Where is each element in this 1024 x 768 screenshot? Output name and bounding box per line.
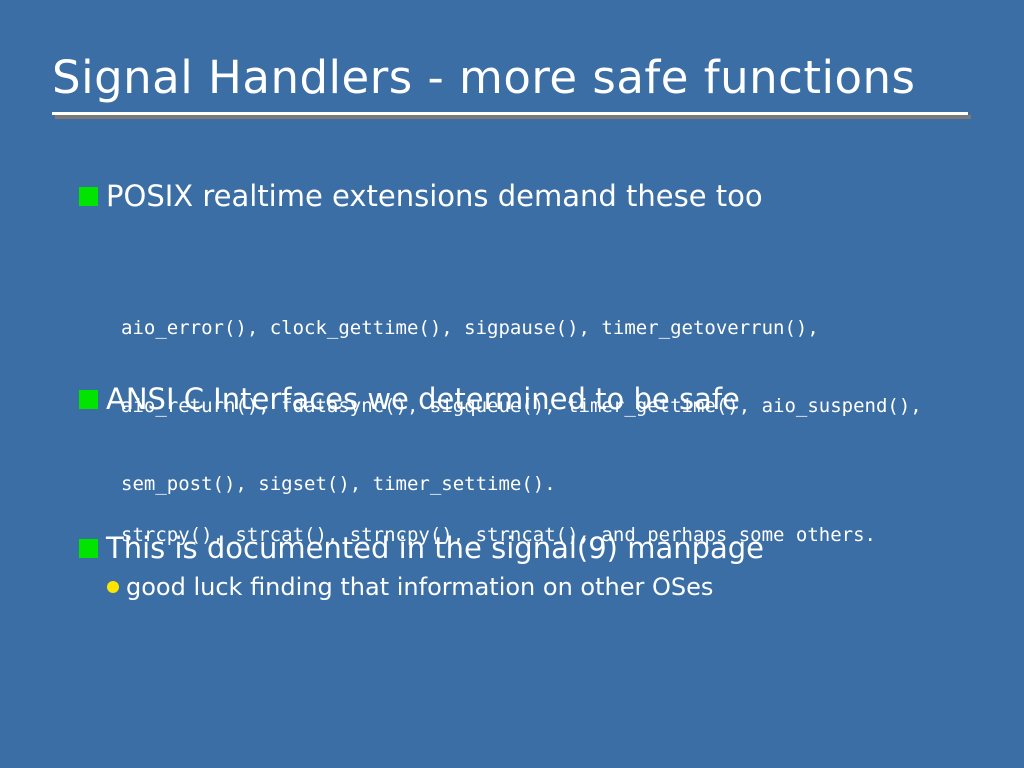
slide-body: POSIX realtime extensions demand these t… — [0, 0, 1024, 768]
bullet-item-ansi-c: ANSI C Interfaces we determined to be sa… — [79, 381, 740, 417]
bullet-item-label: ANSI C Interfaces we determined to be sa… — [106, 381, 740, 417]
bullet-item-posix: POSIX realtime extensions demand these t… — [79, 178, 763, 214]
green-square-bullet-icon — [79, 187, 98, 206]
code-line: aio_error(), clock_gettime(), sigpause()… — [121, 315, 922, 341]
green-square-bullet-icon — [79, 539, 98, 558]
sub-bullet-item-label: good luck finding that information on ot… — [126, 572, 713, 602]
sub-bullet-item-other-oses: good luck finding that information on ot… — [107, 572, 713, 602]
bullet-item-label: This is documented in the signal(9) manp… — [106, 530, 764, 566]
yellow-dot-bullet-icon — [107, 581, 119, 593]
green-square-bullet-icon — [79, 390, 98, 409]
bullet-item-manpage: This is documented in the signal(9) manp… — [79, 530, 764, 566]
slide-canvas: Signal Handlers - more safe functions PO… — [0, 0, 1024, 768]
bullet-item-label: POSIX realtime extensions demand these t… — [106, 178, 763, 214]
